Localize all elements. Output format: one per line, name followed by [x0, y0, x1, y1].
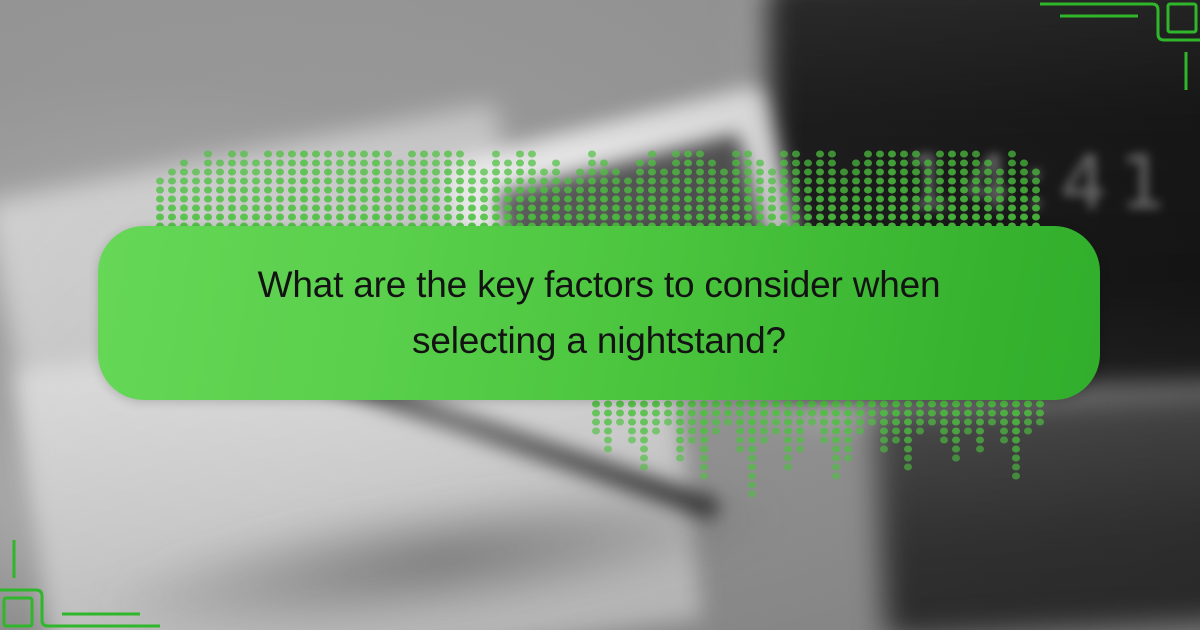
question-text: What are the key factors to consider whe… — [204, 257, 994, 369]
poster-canvas: 14:41 What are the key factors to consid… — [0, 0, 1200, 630]
question-banner: What are the key factors to consider whe… — [98, 226, 1100, 400]
